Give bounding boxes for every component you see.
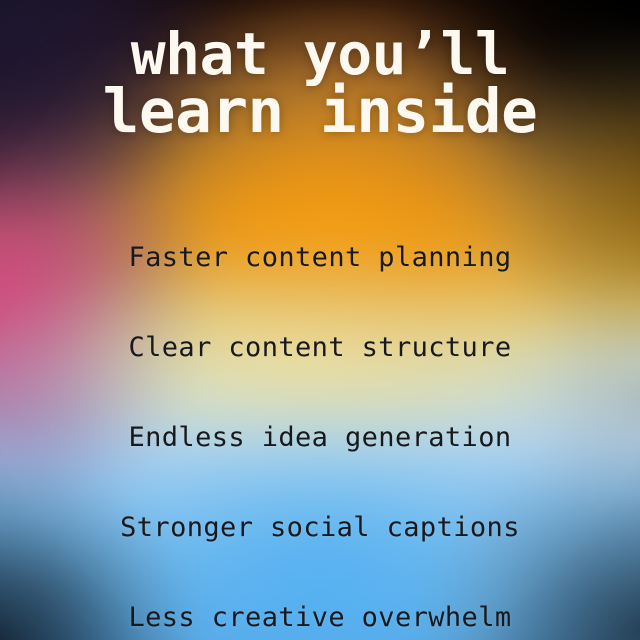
- benefit-label: Stronger social captions: [120, 512, 520, 543]
- benefit-label: Endless idea generation: [128, 422, 511, 453]
- list-item: Endless idea generation: [0, 392, 640, 482]
- page-title: what you’ll learn inside: [103, 26, 538, 141]
- benefit-list: Faster content planning Clear content st…: [0, 212, 640, 640]
- list-item: Less creative overwhelm: [0, 572, 640, 640]
- page-title-line-2: learn inside: [103, 82, 538, 141]
- benefit-label: Less creative overwhelm: [128, 602, 511, 633]
- list-item: Stronger social captions: [0, 482, 640, 572]
- benefit-label: Faster content planning: [128, 242, 511, 273]
- page-title-line-1: what you’ll: [103, 26, 538, 82]
- list-item: Clear content structure: [0, 302, 640, 392]
- promo-graphic-canvas: what you’ll learn inside Faster content …: [0, 0, 640, 640]
- list-item: Faster content planning: [0, 212, 640, 302]
- content-stack: what you’ll learn inside Faster content …: [0, 0, 640, 640]
- benefit-label: Clear content structure: [128, 332, 511, 363]
